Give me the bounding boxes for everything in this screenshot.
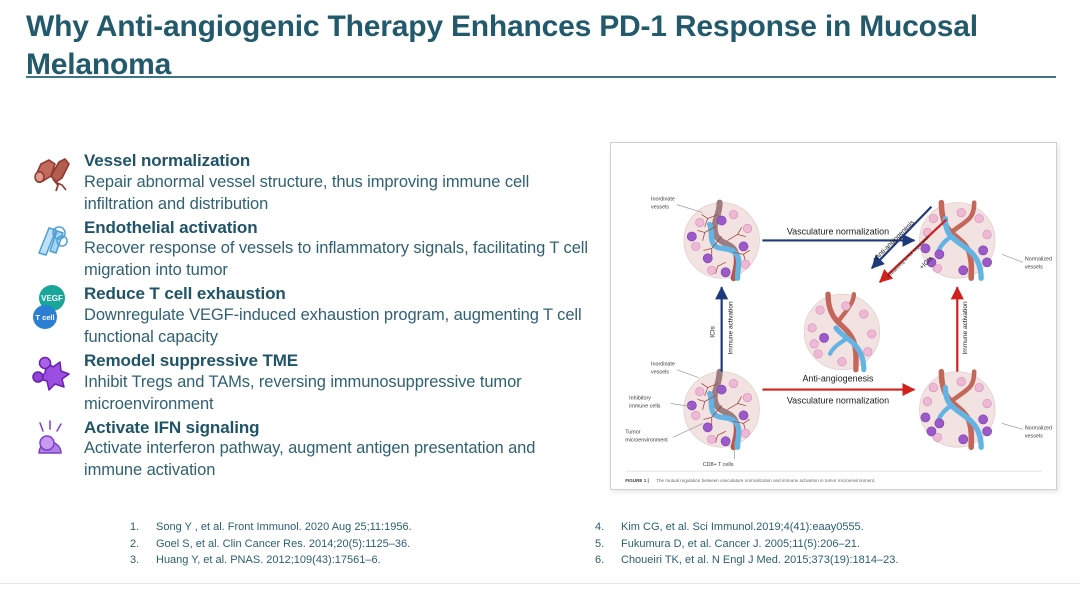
svg-text:CD8+ T cells: CD8+ T cells bbox=[703, 462, 734, 468]
arrow-label-bottom-1: Anti-angiogenesis bbox=[802, 374, 874, 384]
list-item: Endothelial activation Recover response … bbox=[22, 217, 590, 283]
reference-number: 3. bbox=[130, 552, 156, 569]
cell-bottom-left bbox=[684, 372, 760, 448]
reference-text: Huang Y, et al. PNAS. 2012;109(43):17561… bbox=[156, 552, 381, 569]
list-item-body: Repair abnormal vessel structure, thus i… bbox=[84, 172, 590, 216]
list-item-body: Recover response of vessels to inflammat… bbox=[84, 238, 590, 282]
references-block: 1. Song Y , et al. Front Immunol. 2020 A… bbox=[130, 519, 1060, 569]
figure-caption-text: The mutual regulation between vasculatur… bbox=[656, 478, 875, 483]
list-item-heading: Remodel suppressive TME bbox=[84, 350, 590, 372]
arrow-label-immune-activation-left: Immune activation bbox=[728, 301, 735, 354]
cell-center bbox=[804, 294, 880, 370]
svg-text:Inhibitory: Inhibitory bbox=[629, 396, 651, 402]
callout-normalized-vessels-top: Normalized vessels bbox=[1025, 256, 1052, 270]
endothelial-cell-icon bbox=[22, 217, 82, 261]
reference-item: 1. Song Y , et al. Front Immunol. 2020 A… bbox=[130, 519, 595, 536]
leader-line-normalized-bottom bbox=[1002, 423, 1023, 429]
list-item-body: Activate interferon pathway, augment ant… bbox=[84, 438, 590, 482]
reference-item: 2. Goel S, et al. Clin Cancer Res. 2014;… bbox=[130, 536, 595, 553]
callout-inordinate-vessels-top: Inordinate vessels bbox=[651, 197, 675, 211]
activated-cell-icon bbox=[22, 417, 82, 461]
reference-text: Fukumura D, et al. Cancer J. 2005;11(5):… bbox=[621, 536, 860, 553]
figure-caption-bold: FIGURE 1 | bbox=[625, 478, 649, 483]
svg-text:immune cells: immune cells bbox=[629, 403, 661, 409]
reference-number: 4. bbox=[595, 519, 621, 536]
callout-inhibitory-immune-cells: Inhibitory immune cells bbox=[629, 396, 661, 410]
reference-number: 5. bbox=[595, 536, 621, 553]
vegf-tcell-chips-icon: VEGF T cell bbox=[22, 283, 82, 329]
callout-inordinate-vessels-bottom: Inordinate vessels bbox=[651, 362, 675, 376]
reference-item: 4. Kim CG, et al. Sci Immunol.2019;4(41)… bbox=[595, 519, 1060, 536]
svg-text:vessels: vessels bbox=[651, 370, 669, 376]
list-item-body: Inhibit Tregs and TAMs, reversing immuno… bbox=[84, 372, 590, 416]
arrow-label-icis: ICIs bbox=[710, 325, 717, 337]
svg-text:Inordinate: Inordinate bbox=[651, 197, 675, 203]
list-item-body: Downregulate VEGF-induced exhaustion pro… bbox=[84, 305, 590, 349]
arrow-label-bottom-2: Vasculature normalization bbox=[787, 395, 889, 405]
svg-text:microenvironment: microenvironment bbox=[625, 437, 668, 443]
references-column-right: 4. Kim CG, et al. Sci Immunol.2019;4(41)… bbox=[595, 519, 1060, 569]
reference-text: Choueiri TK, et al. N Engl J Med. 2015;3… bbox=[621, 552, 898, 569]
list-item-heading: Endothelial activation bbox=[84, 217, 590, 239]
callout-cd8-t-cells: CD8+ T cells bbox=[703, 462, 734, 468]
arrow-label-top: Vasculature normalization bbox=[787, 226, 889, 236]
figure-caption: FIGURE 1 | The mutual regulation between… bbox=[625, 469, 875, 486]
svg-text:vessels: vessels bbox=[1025, 433, 1043, 439]
list-item: Remodel suppressive TME Inhibit Tregs an… bbox=[22, 350, 590, 416]
title-divider bbox=[26, 76, 1056, 78]
cell-top-right bbox=[920, 203, 996, 279]
arrow-label-immune-activation-right: Immune activation bbox=[962, 301, 969, 354]
svg-text:Inordinate: Inordinate bbox=[651, 362, 675, 368]
list-item-heading: Activate IFN signaling bbox=[84, 417, 590, 439]
reference-item: 3. Huang Y, et al. PNAS. 2012;109(43):17… bbox=[130, 552, 595, 569]
reference-text: Song Y , et al. Front Immunol. 2020 Aug … bbox=[156, 519, 412, 536]
svg-text:vessels: vessels bbox=[1025, 264, 1043, 270]
figure-diagram: Vasculature normalization ICIs Immune ac… bbox=[611, 143, 1056, 489]
svg-text:Normalized: Normalized bbox=[1025, 256, 1052, 262]
reference-number: 2. bbox=[130, 536, 156, 553]
references-column-left: 1. Song Y , et al. Front Immunol. 2020 A… bbox=[130, 519, 595, 569]
footer-divider bbox=[0, 583, 1080, 584]
list-item-heading: Reduce T cell exhaustion bbox=[84, 283, 590, 305]
callout-tumor-microenvironment: Tumor microenvironment bbox=[625, 429, 668, 443]
svg-text:vessels: vessels bbox=[651, 205, 669, 211]
reference-text: Kim CG, et al. Sci Immunol.2019;4(41):ea… bbox=[621, 519, 864, 536]
svg-text:Tumor: Tumor bbox=[625, 429, 641, 435]
macrophage-icon bbox=[22, 350, 82, 394]
reference-item: 6. Choueiri TK, et al. N Engl J Med. 201… bbox=[595, 552, 1060, 569]
leader-line-inordinate-top bbox=[677, 205, 703, 213]
list-item: Activate IFN signaling Activate interfer… bbox=[22, 417, 590, 483]
callout-normalized-vessels-bottom: Normalized vessels bbox=[1025, 425, 1052, 439]
page-title: Why Anti-angiogenic Therapy Enhances PD-… bbox=[26, 8, 1056, 85]
leader-line-inordinate-bottom bbox=[677, 370, 699, 378]
tcell-chip: T cell bbox=[33, 305, 57, 329]
reference-text: Goel S, et al. Clin Cancer Res. 2014;20(… bbox=[156, 536, 410, 553]
list-item: VEGF T cell Reduce T cell exhaustion Dow… bbox=[22, 283, 590, 349]
slide-root: Why Anti-angiogenic Therapy Enhances PD-… bbox=[0, 0, 1080, 592]
figure-panel: Vasculature normalization ICIs Immune ac… bbox=[610, 142, 1057, 490]
list-item: Vessel normalization Repair abnormal ves… bbox=[22, 150, 590, 216]
reference-number: 1. bbox=[130, 519, 156, 536]
title-block: Why Anti-angiogenic Therapy Enhances PD-… bbox=[26, 8, 1056, 85]
cell-bottom-right bbox=[920, 372, 996, 448]
key-points-list: Vessel normalization Repair abnormal ves… bbox=[22, 150, 590, 483]
reference-number: 6. bbox=[595, 552, 621, 569]
reference-item: 5. Fukumura D, et al. Cancer J. 2005;11(… bbox=[595, 536, 1060, 553]
blood-vessel-icon bbox=[22, 150, 82, 194]
list-item-heading: Vessel normalization bbox=[84, 150, 590, 172]
leader-line-normalized-top bbox=[1002, 254, 1023, 262]
svg-text:Normalized: Normalized bbox=[1025, 425, 1052, 431]
cell-top-left bbox=[684, 203, 760, 279]
